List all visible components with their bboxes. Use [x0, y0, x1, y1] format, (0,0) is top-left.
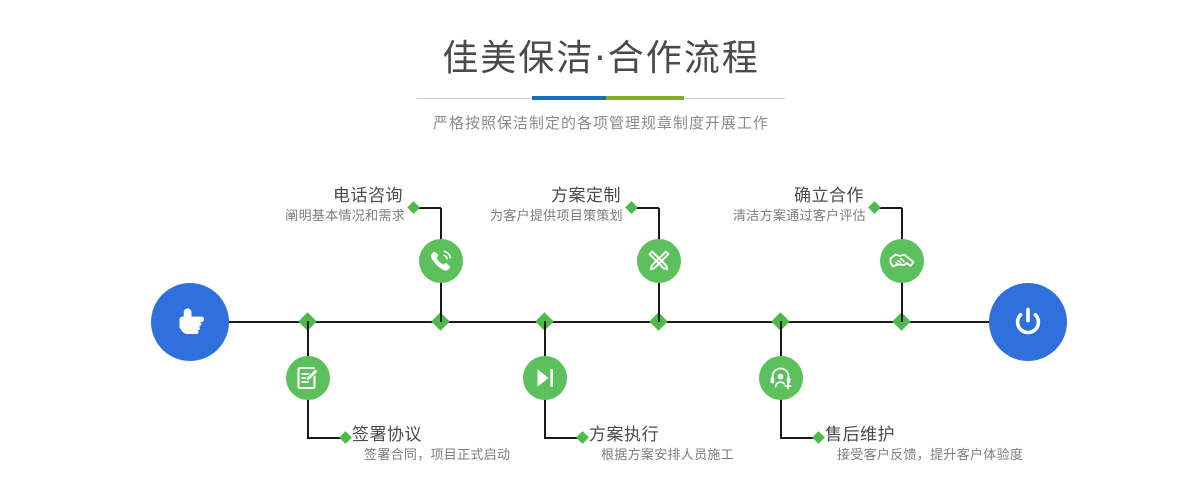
power-icon [1006, 300, 1050, 344]
step-2-icon-badge[interactable] [286, 356, 330, 400]
step-6-label: 售后维护 接受客户反馈，提升客户体验度 [823, 424, 1202, 466]
step-2-arm [307, 437, 343, 439]
handshake-icon [887, 246, 917, 276]
page-title: 佳美保洁·合作流程 [0, 36, 1202, 82]
step-6-arm [780, 437, 816, 439]
title-divider [417, 96, 785, 102]
customer-support-icon [767, 364, 795, 392]
step-5-arrow-marker [868, 201, 881, 214]
flow-diagram-canvas: 佳美保洁·合作流程 严格按照保洁制定的各项管理规章制度开展工作 [0, 0, 1202, 502]
step-6-title: 售后维护 [823, 424, 1202, 446]
step-5-label: 确立合作 清洁方案通过客户评估 [460, 185, 866, 227]
step-3-icon-badge[interactable] [637, 239, 681, 283]
step-4-icon-badge[interactable] [523, 356, 567, 400]
document-edit-icon [294, 364, 322, 392]
divider-green-segment [606, 96, 684, 100]
divider-blue-segment [532, 96, 606, 100]
page-subtitle: 严格按照保洁制定的各项管理规章制度开展工作 [0, 112, 1202, 134]
step-4-arm [544, 437, 580, 439]
pencil-plan-icon [645, 247, 673, 275]
end-endpoint[interactable] [989, 283, 1067, 361]
step-5-icon-badge[interactable] [880, 239, 924, 283]
step-1-icon-badge[interactable] [419, 239, 463, 283]
timeline-axis [228, 321, 990, 323]
phone-call-icon [426, 246, 456, 276]
pointing-hand-icon [168, 300, 212, 344]
step-6-desc: 接受客户反馈，提升客户体验度 [823, 446, 1202, 466]
step-5-desc: 清洁方案通过客户评估 [460, 207, 866, 227]
page-header: 佳美保洁·合作流程 严格按照保洁制定的各项管理规章制度开展工作 [0, 0, 1202, 134]
step-6-icon-badge[interactable] [759, 356, 803, 400]
play-execute-icon [532, 365, 558, 391]
start-endpoint[interactable] [151, 283, 229, 361]
step-5-title: 确立合作 [460, 185, 866, 207]
